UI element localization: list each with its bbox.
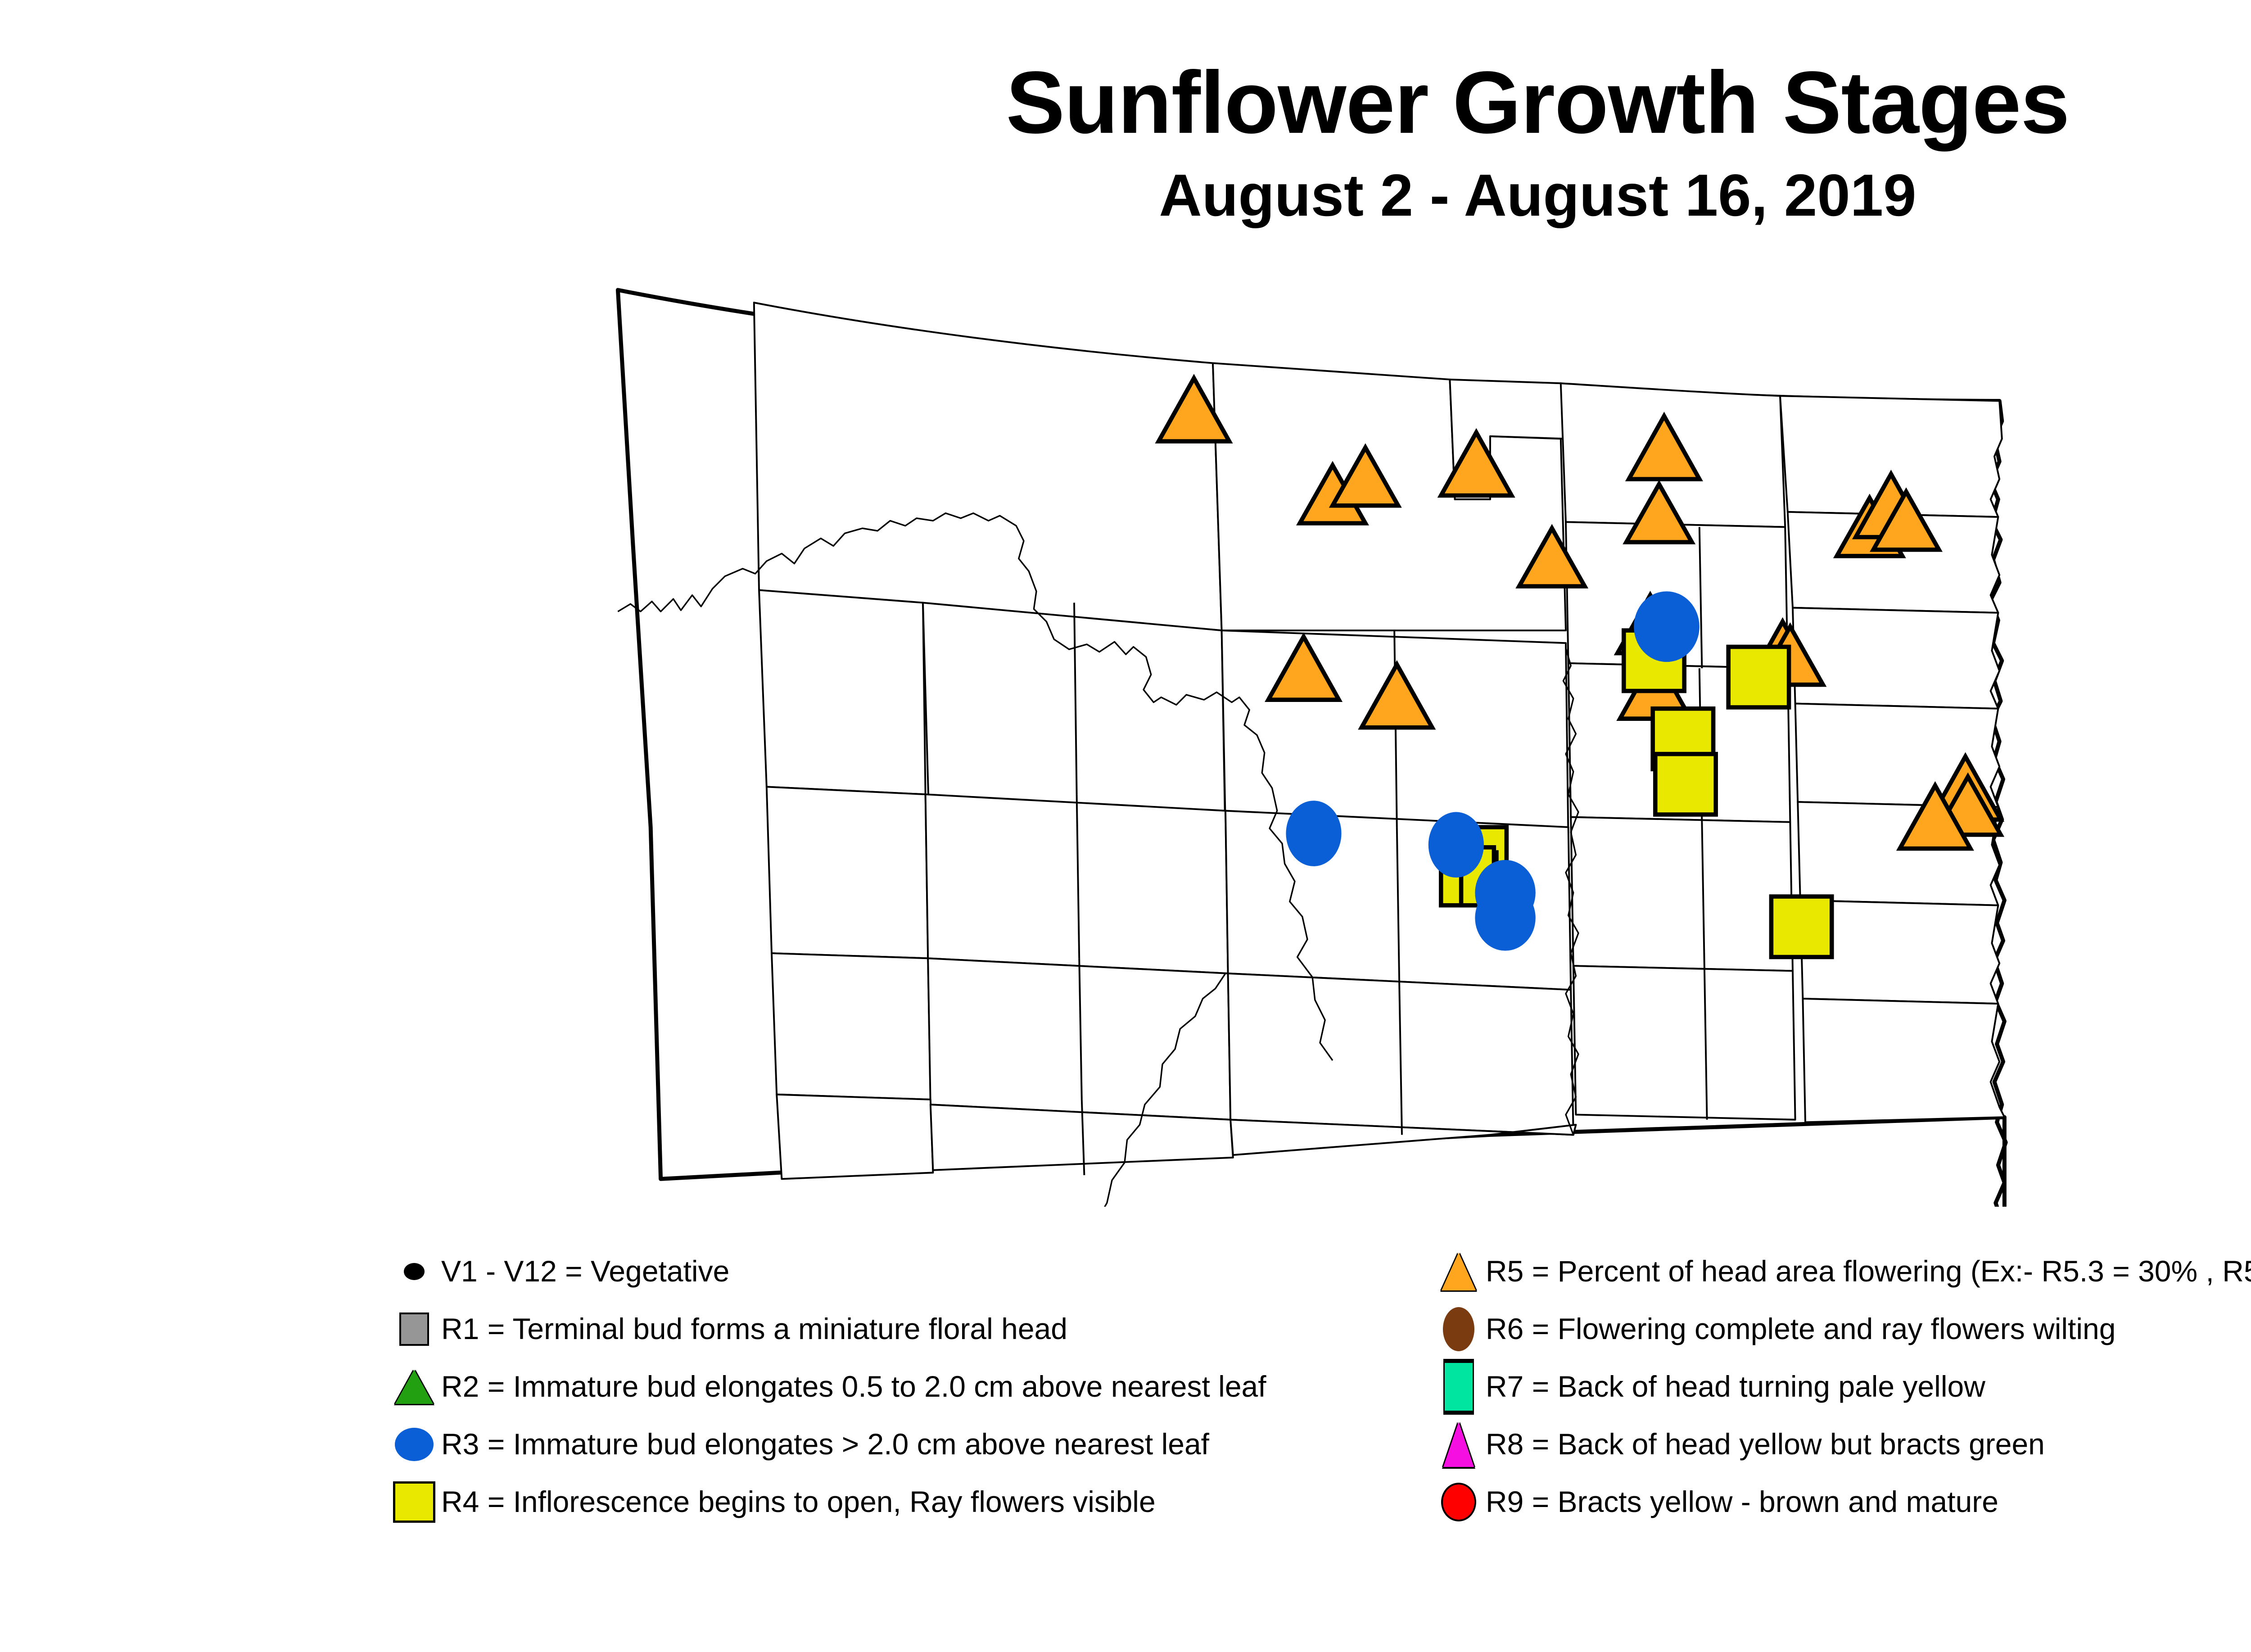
legend-item-label: R8 = Back of head yellow but bracts gree…	[1486, 1429, 2045, 1460]
county-r5-d	[1573, 966, 1795, 1120]
county-r4-d	[1571, 817, 1793, 971]
county-r5-g	[1803, 999, 2004, 1122]
legend-item-r7[interactable]: R7 = Back of head turning pale yellow	[1432, 1358, 2251, 1416]
legend-item-label: R5 = Percent of head area flowering (Ex:…	[1486, 1256, 2251, 1287]
page-title: Sunflower Growth Stages	[0, 59, 2251, 147]
county-boundaries	[618, 290, 2006, 1207]
title-block: Sunflower Growth Stages August 2 - Augus…	[0, 59, 2251, 225]
legend-item-v1-v12[interactable]: V1 - V12 = Vegetative	[387, 1243, 1468, 1300]
legend-column-right: R5 = Percent of head area flowering (Ex:…	[1432, 1243, 2251, 1531]
marker-blue-circle[interactable]	[1286, 801, 1341, 866]
county-r3-a	[767, 787, 928, 958]
orange-triangle-icon	[1432, 1245, 1486, 1299]
legend-column-left: V1 - V12 = Vegetative R1 = Terminal bud …	[387, 1243, 1468, 1531]
marker-yellow-square[interactable]	[1728, 647, 1789, 707]
marker-blue-circle[interactable]	[1475, 885, 1535, 951]
legend-item-label: R2 = Immature bud elongates 0.5 to 2.0 c…	[441, 1371, 1266, 1402]
legend: V1 - V12 = Vegetative R1 = Terminal bud …	[0, 1243, 2251, 1585]
legend-item-r4[interactable]: R4 = Inflorescence begins to open, Ray f…	[387, 1473, 1468, 1531]
green-triangle-icon	[387, 1360, 441, 1414]
legend-item-r1[interactable]: R1 = Terminal bud forms a miniature flor…	[387, 1300, 1468, 1358]
blue-circle-icon	[387, 1417, 441, 1471]
marker-blue-circle[interactable]	[1428, 812, 1484, 878]
magenta-triangle-icon	[1432, 1417, 1486, 1471]
legend-item-r6[interactable]: R6 = Flowering complete and ray flowers …	[1432, 1300, 2251, 1358]
legend-item-label: R9 = Bracts yellow - brown and mature	[1486, 1486, 1998, 1517]
legend-item-r8[interactable]: R8 = Back of head yellow but bracts gree…	[1432, 1416, 2251, 1473]
legend-item-label: R7 = Back of head turning pale yellow	[1486, 1371, 1985, 1402]
date-range-subtitle: August 2 - August 16, 2019	[0, 166, 2251, 225]
legend-item-r3[interactable]: R3 = Immature bud elongates > 2.0 cm abo…	[387, 1416, 1468, 1473]
legend-item-label: R1 = Terminal bud forms a miniature flor…	[441, 1313, 1067, 1344]
red-circle-icon	[1432, 1475, 1486, 1529]
county-r2-a	[759, 590, 926, 795]
county-r3-e	[1793, 608, 1999, 709]
legend-item-r9[interactable]: R9 = Bracts yellow - brown and mature	[1432, 1473, 2251, 1531]
teal-square-icon	[1432, 1360, 1486, 1414]
county-r4-a	[772, 953, 931, 1100]
gray-square-icon	[387, 1302, 441, 1356]
map-svg	[608, 252, 2183, 1207]
brown-circle-icon	[1432, 1302, 1486, 1356]
legend-item-r5[interactable]: R5 = Percent of head area flowering (Ex:…	[1432, 1243, 2251, 1300]
north-dakota-county-map[interactable]	[608, 252, 2183, 1207]
marker-yellow-square[interactable]	[1771, 896, 1831, 957]
black-dot-icon	[387, 1245, 441, 1299]
marker-blue-circle[interactable]	[1634, 591, 1700, 662]
legend-item-r2[interactable]: R2 = Immature bud elongates 0.5 to 2.0 c…	[387, 1358, 1468, 1416]
marker-yellow-square[interactable]	[1655, 754, 1716, 815]
legend-item-label: R4 = Inflorescence begins to open, Ray f…	[441, 1486, 1156, 1517]
legend-item-label: R6 = Flowering complete and ray flowers …	[1486, 1313, 2115, 1344]
yellow-square-icon	[387, 1475, 441, 1529]
legend-item-label: R3 = Immature bud elongates > 2.0 cm abo…	[441, 1429, 1209, 1460]
legend-item-label: V1 - V12 = Vegetative	[441, 1256, 729, 1287]
county-divide-n1	[754, 303, 1222, 630]
county-r5-a	[777, 1095, 933, 1179]
